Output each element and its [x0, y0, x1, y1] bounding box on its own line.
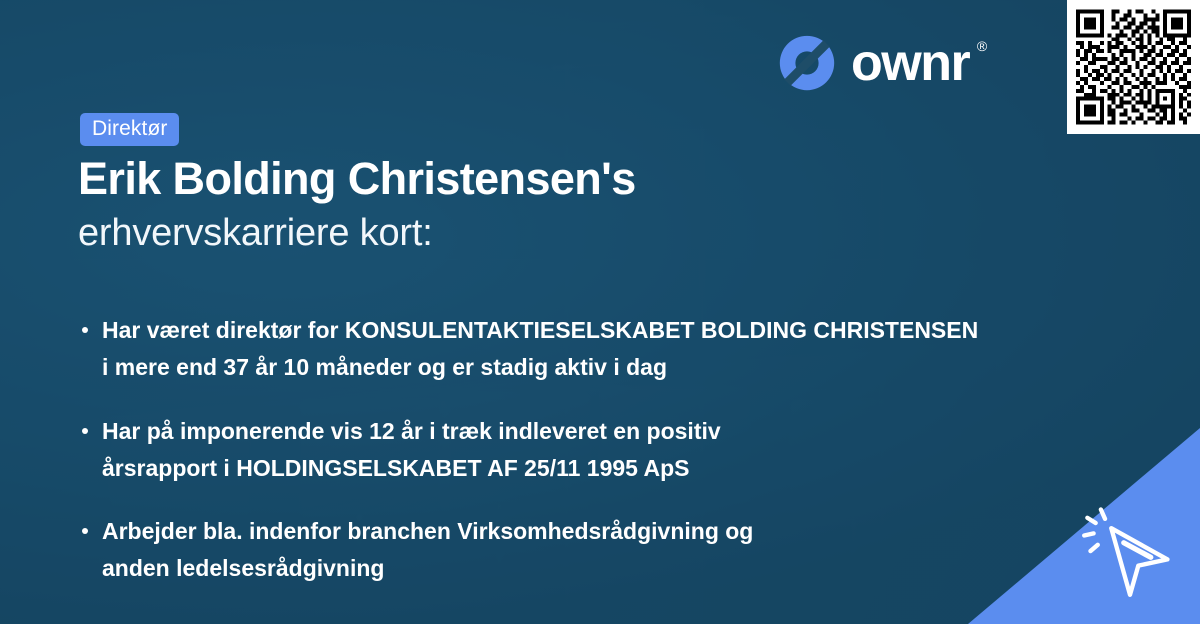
bullet-dot-icon	[82, 327, 88, 333]
list-item-line-1: Har været direktør for KONSULENTAKTIESEL…	[102, 317, 978, 343]
registered-trademark-icon: ®	[977, 39, 987, 53]
career-card: Direktør Erik Bolding Christensen's erhv…	[0, 0, 1200, 624]
list-item-line-1: Har på imponerende vis 12 år i træk indl…	[102, 418, 721, 444]
page-subtitle: erhvervskarriere kort:	[78, 214, 433, 252]
ownr-logo[interactable]: ownr®	[778, 34, 969, 92]
list-item: Har på imponerende vis 12 år i træk indl…	[80, 413, 1120, 488]
career-highlights-list: Har været direktør for KONSULENTAKTIESEL…	[80, 312, 1120, 588]
ownr-circle-mark-icon	[778, 34, 836, 92]
click-cursor-icon	[1078, 496, 1182, 602]
list-item-line-2: anden ledelsesrådgivning	[102, 550, 1120, 587]
list-item-line-2: i mere end 37 år 10 måneder og er stadig…	[102, 349, 1120, 386]
list-item: Arbejder bla. indenfor branchen Virksomh…	[80, 513, 1120, 588]
role-badge: Direktør	[80, 113, 179, 146]
ownr-wordmark-text: ownr	[851, 34, 969, 92]
qr-code[interactable]	[1067, 0, 1200, 134]
list-item-line-1: Arbejder bla. indenfor branchen Virksomh…	[102, 518, 753, 544]
ownr-wordmark: ownr®	[851, 37, 969, 89]
bullet-dot-icon	[82, 528, 88, 534]
bullet-dot-icon	[82, 428, 88, 434]
list-item-line-2: årsrapport i HOLDINGSELSKABET AF 25/11 1…	[102, 450, 1120, 487]
list-item: Har været direktør for KONSULENTAKTIESEL…	[80, 312, 1120, 387]
page-title: Erik Bolding Christensen's	[78, 156, 636, 201]
